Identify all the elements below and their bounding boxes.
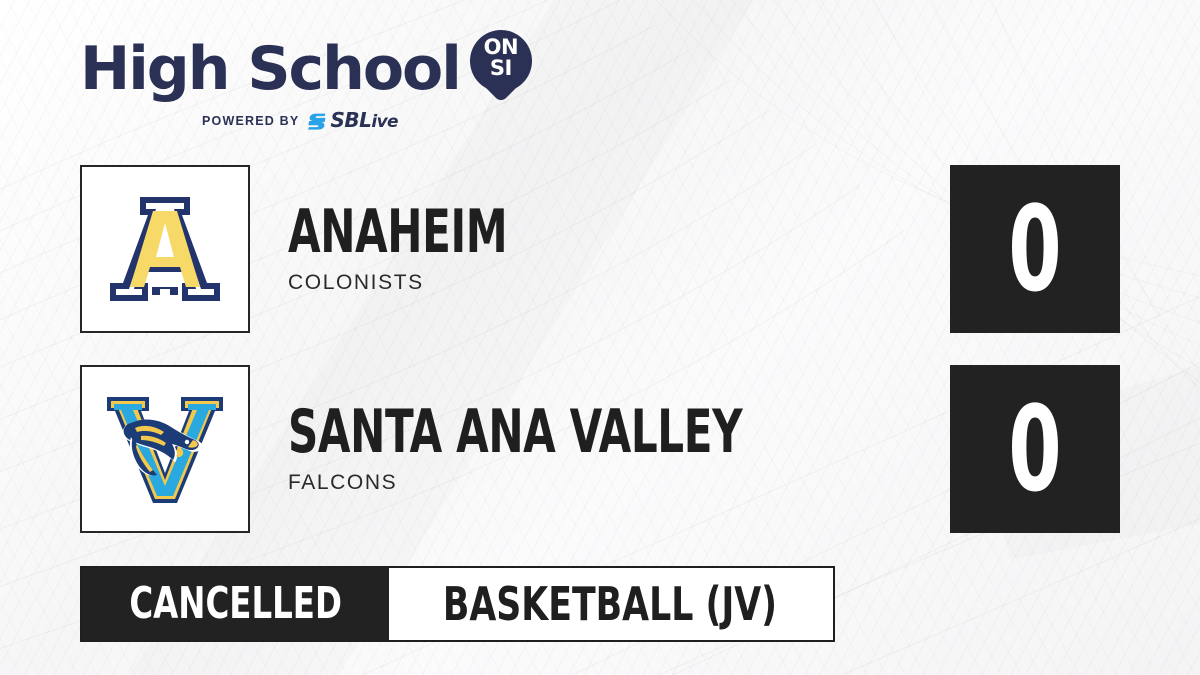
sblive-bolt-icon — [308, 113, 327, 130]
pin-label-on: ON — [470, 37, 532, 58]
brand-wordmark-row: High School ON SI — [80, 34, 510, 104]
powered-by-row: POWERED BY SBLive — [80, 110, 510, 132]
game-status-bar: CANCELLED BASKETBALL (JV) — [80, 566, 835, 642]
team-score: 0 — [1008, 190, 1061, 308]
sport-label: BASKETBALL (JV) — [443, 581, 777, 627]
scoreboard-graphic: High School ON SI POWERED BY SBLive — [0, 0, 1200, 675]
santa-ana-valley-falcons-v-logo — [103, 387, 227, 511]
team-name: ANAHEIM — [288, 203, 937, 261]
team-row-away: SANTA ANA VALLEY FALCONS 0 — [80, 365, 1120, 533]
powered-by-label: POWERED BY — [202, 114, 299, 128]
brand-wordmark: High School — [80, 39, 460, 99]
team-row-home: ANAHEIM COLONISTS 0 — [80, 165, 1120, 333]
on-si-pin-icon: ON SI — [470, 30, 510, 104]
sblive-bold: SBL — [330, 108, 371, 132]
team-score-box: 0 — [950, 365, 1120, 533]
pin-label-si: SI — [470, 58, 532, 79]
team-score-box: 0 — [950, 165, 1120, 333]
sblive-light: ive — [371, 112, 398, 132]
team-name: SANTA ANA VALLEY — [288, 403, 937, 461]
team-logo-box — [80, 365, 250, 533]
team-logo-box — [80, 165, 250, 333]
status-badge-label: CANCELLED — [129, 582, 342, 626]
brand-header: High School ON SI POWERED BY SBLive — [80, 34, 510, 144]
sblive-wordmark: SBLive — [330, 110, 398, 132]
anaheim-colonists-block-a-logo — [106, 193, 224, 305]
team-score: 0 — [1008, 390, 1061, 508]
status-badge: CANCELLED — [82, 568, 389, 640]
sport-label-container: BASKETBALL (JV) — [389, 568, 833, 640]
